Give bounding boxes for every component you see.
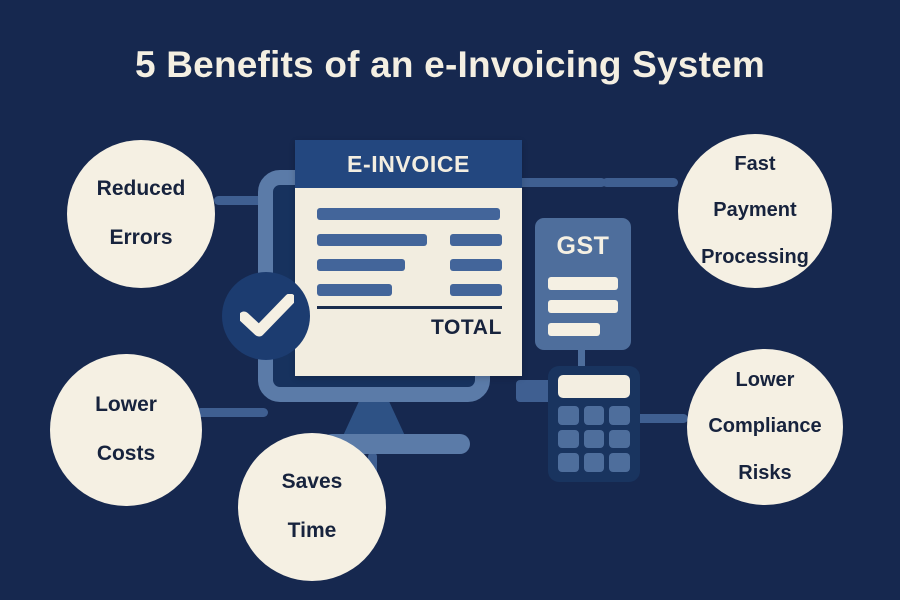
invoice-body: TOTAL [295, 188, 522, 376]
calculator-key [609, 430, 630, 449]
calculator-key [609, 406, 630, 425]
invoice-line-bar [317, 234, 427, 246]
benefit-line: Lower [87, 393, 165, 418]
benefit-bubble-text: ReducedErrors [81, 177, 202, 251]
calculator-keypad [558, 406, 630, 472]
calculator-key [558, 453, 579, 472]
benefit-line: Time [274, 519, 351, 544]
benefit-bubble-lower-compliance[interactable]: LowerComplianceRisks [687, 349, 843, 505]
benefit-bubble-text: LowerComplianceRisks [692, 369, 837, 486]
invoice-line-bar [317, 259, 405, 271]
benefit-bubble-text: SavesTime [266, 470, 359, 544]
benefit-line: Compliance [700, 415, 829, 438]
benefit-line: Costs [87, 442, 165, 467]
benefit-line: Lower [700, 369, 829, 392]
gst-card-bar [548, 277, 618, 290]
benefit-bubble-reduced-errors[interactable]: ReducedErrors [67, 140, 215, 288]
benefit-line: Fast [693, 153, 817, 176]
benefit-line: Processing [693, 246, 817, 269]
gst-card-bar [548, 323, 600, 336]
benefit-bubble-text: FastPaymentProcessing [685, 153, 825, 270]
invoice-header: E-INVOICE [295, 140, 522, 188]
calculator [548, 366, 640, 482]
monitor-stand-neck [342, 402, 406, 438]
benefit-line: Reduced [89, 177, 194, 202]
calculator-display [558, 375, 630, 398]
invoice-line-bar [317, 208, 500, 220]
invoice-amount-bar [450, 259, 502, 271]
calculator-key [584, 406, 605, 425]
invoice-total-divider [317, 306, 502, 309]
benefit-bubble-saves-time[interactable]: SavesTime [238, 433, 386, 581]
calculator-key [558, 430, 579, 449]
benefit-bubble-lower-costs[interactable]: LowerCosts [50, 354, 202, 506]
benefit-bubble-text: LowerCosts [79, 393, 173, 467]
connector-lower-costs [196, 408, 268, 417]
benefit-line: Payment [693, 199, 817, 222]
benefit-bubble-fast-payment[interactable]: FastPaymentProcessing [678, 134, 832, 288]
benefit-line: Saves [274, 470, 351, 495]
calculator-key [558, 406, 579, 425]
invoice-amount-bar [450, 284, 502, 296]
gst-card-bar [548, 300, 618, 313]
calculator-key [609, 453, 630, 472]
calculator-key [584, 430, 605, 449]
infographic-canvas: 5 Benefits of an e-Invoicing System GST … [0, 0, 900, 600]
benefit-line: Errors [89, 226, 194, 251]
gst-card: GST [535, 218, 631, 350]
benefit-line: Risks [700, 462, 829, 485]
calculator-key [584, 453, 605, 472]
gst-card-title: GST [535, 232, 631, 261]
invoice-line-bar [317, 284, 392, 296]
check-icon [240, 294, 294, 338]
invoice-document: E-INVOICE TOTAL [295, 140, 522, 376]
page-title: 5 Benefits of an e-Invoicing System [0, 44, 900, 86]
invoice-amount-bar [450, 234, 502, 246]
check-badge [222, 272, 310, 360]
connector-fast-payment [602, 178, 678, 187]
invoice-total-label: TOTAL [295, 316, 502, 340]
invoice-header-title: E-INVOICE [295, 151, 522, 178]
